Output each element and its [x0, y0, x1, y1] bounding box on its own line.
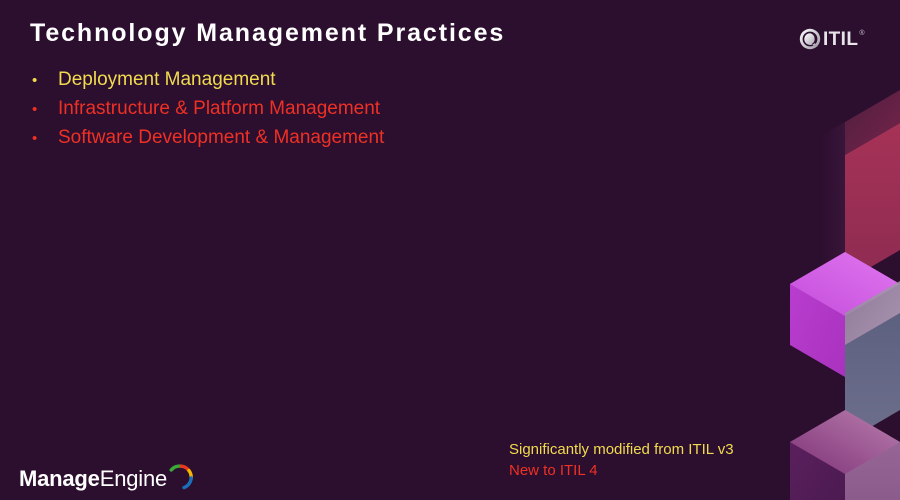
manageengine-wordmark: ManageEngine [19, 468, 167, 490]
legend-item-modified: Significantly modified from ITIL v3 [509, 439, 734, 460]
itil-wordmark: ITIL [823, 30, 858, 49]
bullet-dot-icon: • [32, 131, 58, 146]
legend-item-new: New to ITIL 4 [509, 460, 734, 481]
bullet-dot-icon: • [32, 102, 58, 117]
slide: Technology Management Practices • Deploy… [0, 0, 900, 500]
bullet-dot-icon: • [32, 73, 58, 88]
page-title: Technology Management Practices [30, 19, 505, 48]
list-item: • Infrastructure & Platform Management [32, 99, 632, 128]
decoration-cube-column [790, 0, 900, 500]
list-item: • Software Development & Management [32, 128, 632, 157]
practice-list: • Deployment Management • Infrastructure… [32, 70, 632, 157]
cube-column-svg [790, 0, 900, 500]
itil-circle-mark-icon [799, 28, 821, 50]
list-item-label: Deployment Management [58, 70, 276, 89]
manageengine-word-light: Engine [100, 466, 167, 491]
legend: Significantly modified from ITIL v3 New … [509, 439, 734, 481]
list-item: • Deployment Management [32, 70, 632, 99]
itil-logo: ITIL ® [799, 28, 865, 50]
list-item-label: Infrastructure & Platform Management [58, 99, 380, 118]
manageengine-swoosh-icon [168, 464, 194, 490]
itil-trademark-icon: ® [859, 30, 864, 37]
manageengine-word-bold: Manage [19, 466, 100, 491]
list-item-label: Software Development & Management [58, 128, 384, 147]
manageengine-logo: ManageEngine [19, 467, 194, 490]
